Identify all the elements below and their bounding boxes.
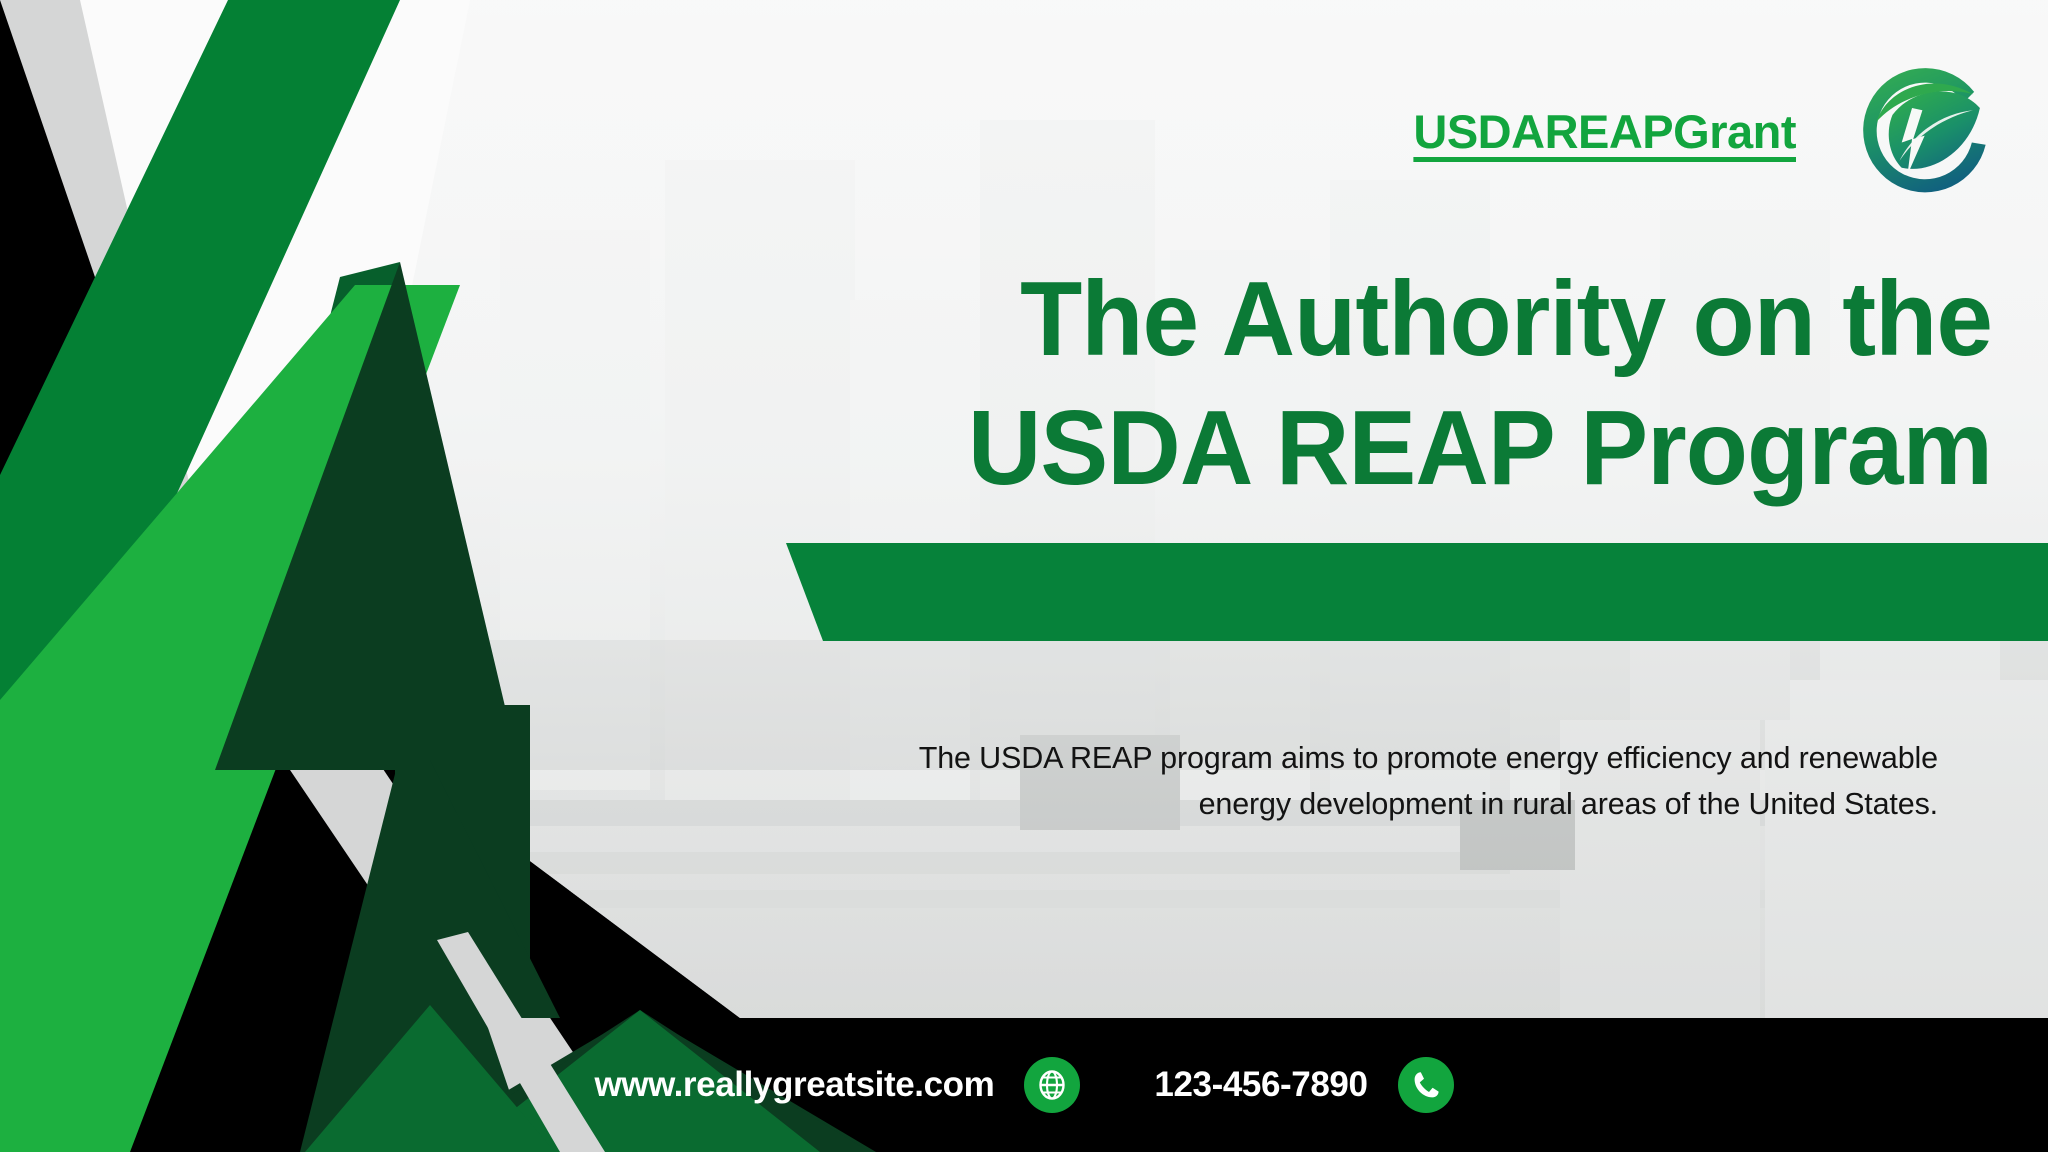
globe-icon[interactable] (1024, 1057, 1080, 1113)
page-title: The Authority on the USDA REAP Program (763, 255, 1992, 514)
phone-icon[interactable] (1398, 1057, 1454, 1113)
description-line-2: energy development in rural areas of the… (838, 781, 1938, 827)
website-group[interactable]: www.reallygreatsite.com (594, 1057, 1080, 1113)
phone-group[interactable]: 123-456-7890 (1154, 1057, 1453, 1113)
description-text: The USDA REAP program aims to promote en… (838, 735, 1938, 828)
headline-line-1: The Authority on the (763, 255, 1992, 384)
leaf-energy-circle-logo-icon (1858, 62, 1996, 200)
brand-row: USDAREAPGrant (1413, 62, 1996, 200)
usda-reap-grant-banner: USDAREAPGrant (0, 0, 2048, 1152)
headline-line-2: USDA REAP Program (763, 384, 1992, 513)
website-text[interactable]: www.reallygreatsite.com (594, 1065, 994, 1105)
footer-bar: www.reallygreatsite.com 123-456-7890 (0, 1018, 2048, 1152)
brand-name: USDAREAPGrant (1413, 104, 1796, 159)
description-line-1: The USDA REAP program aims to promote en… (838, 735, 1938, 781)
phone-text[interactable]: 123-456-7890 (1154, 1065, 1367, 1105)
